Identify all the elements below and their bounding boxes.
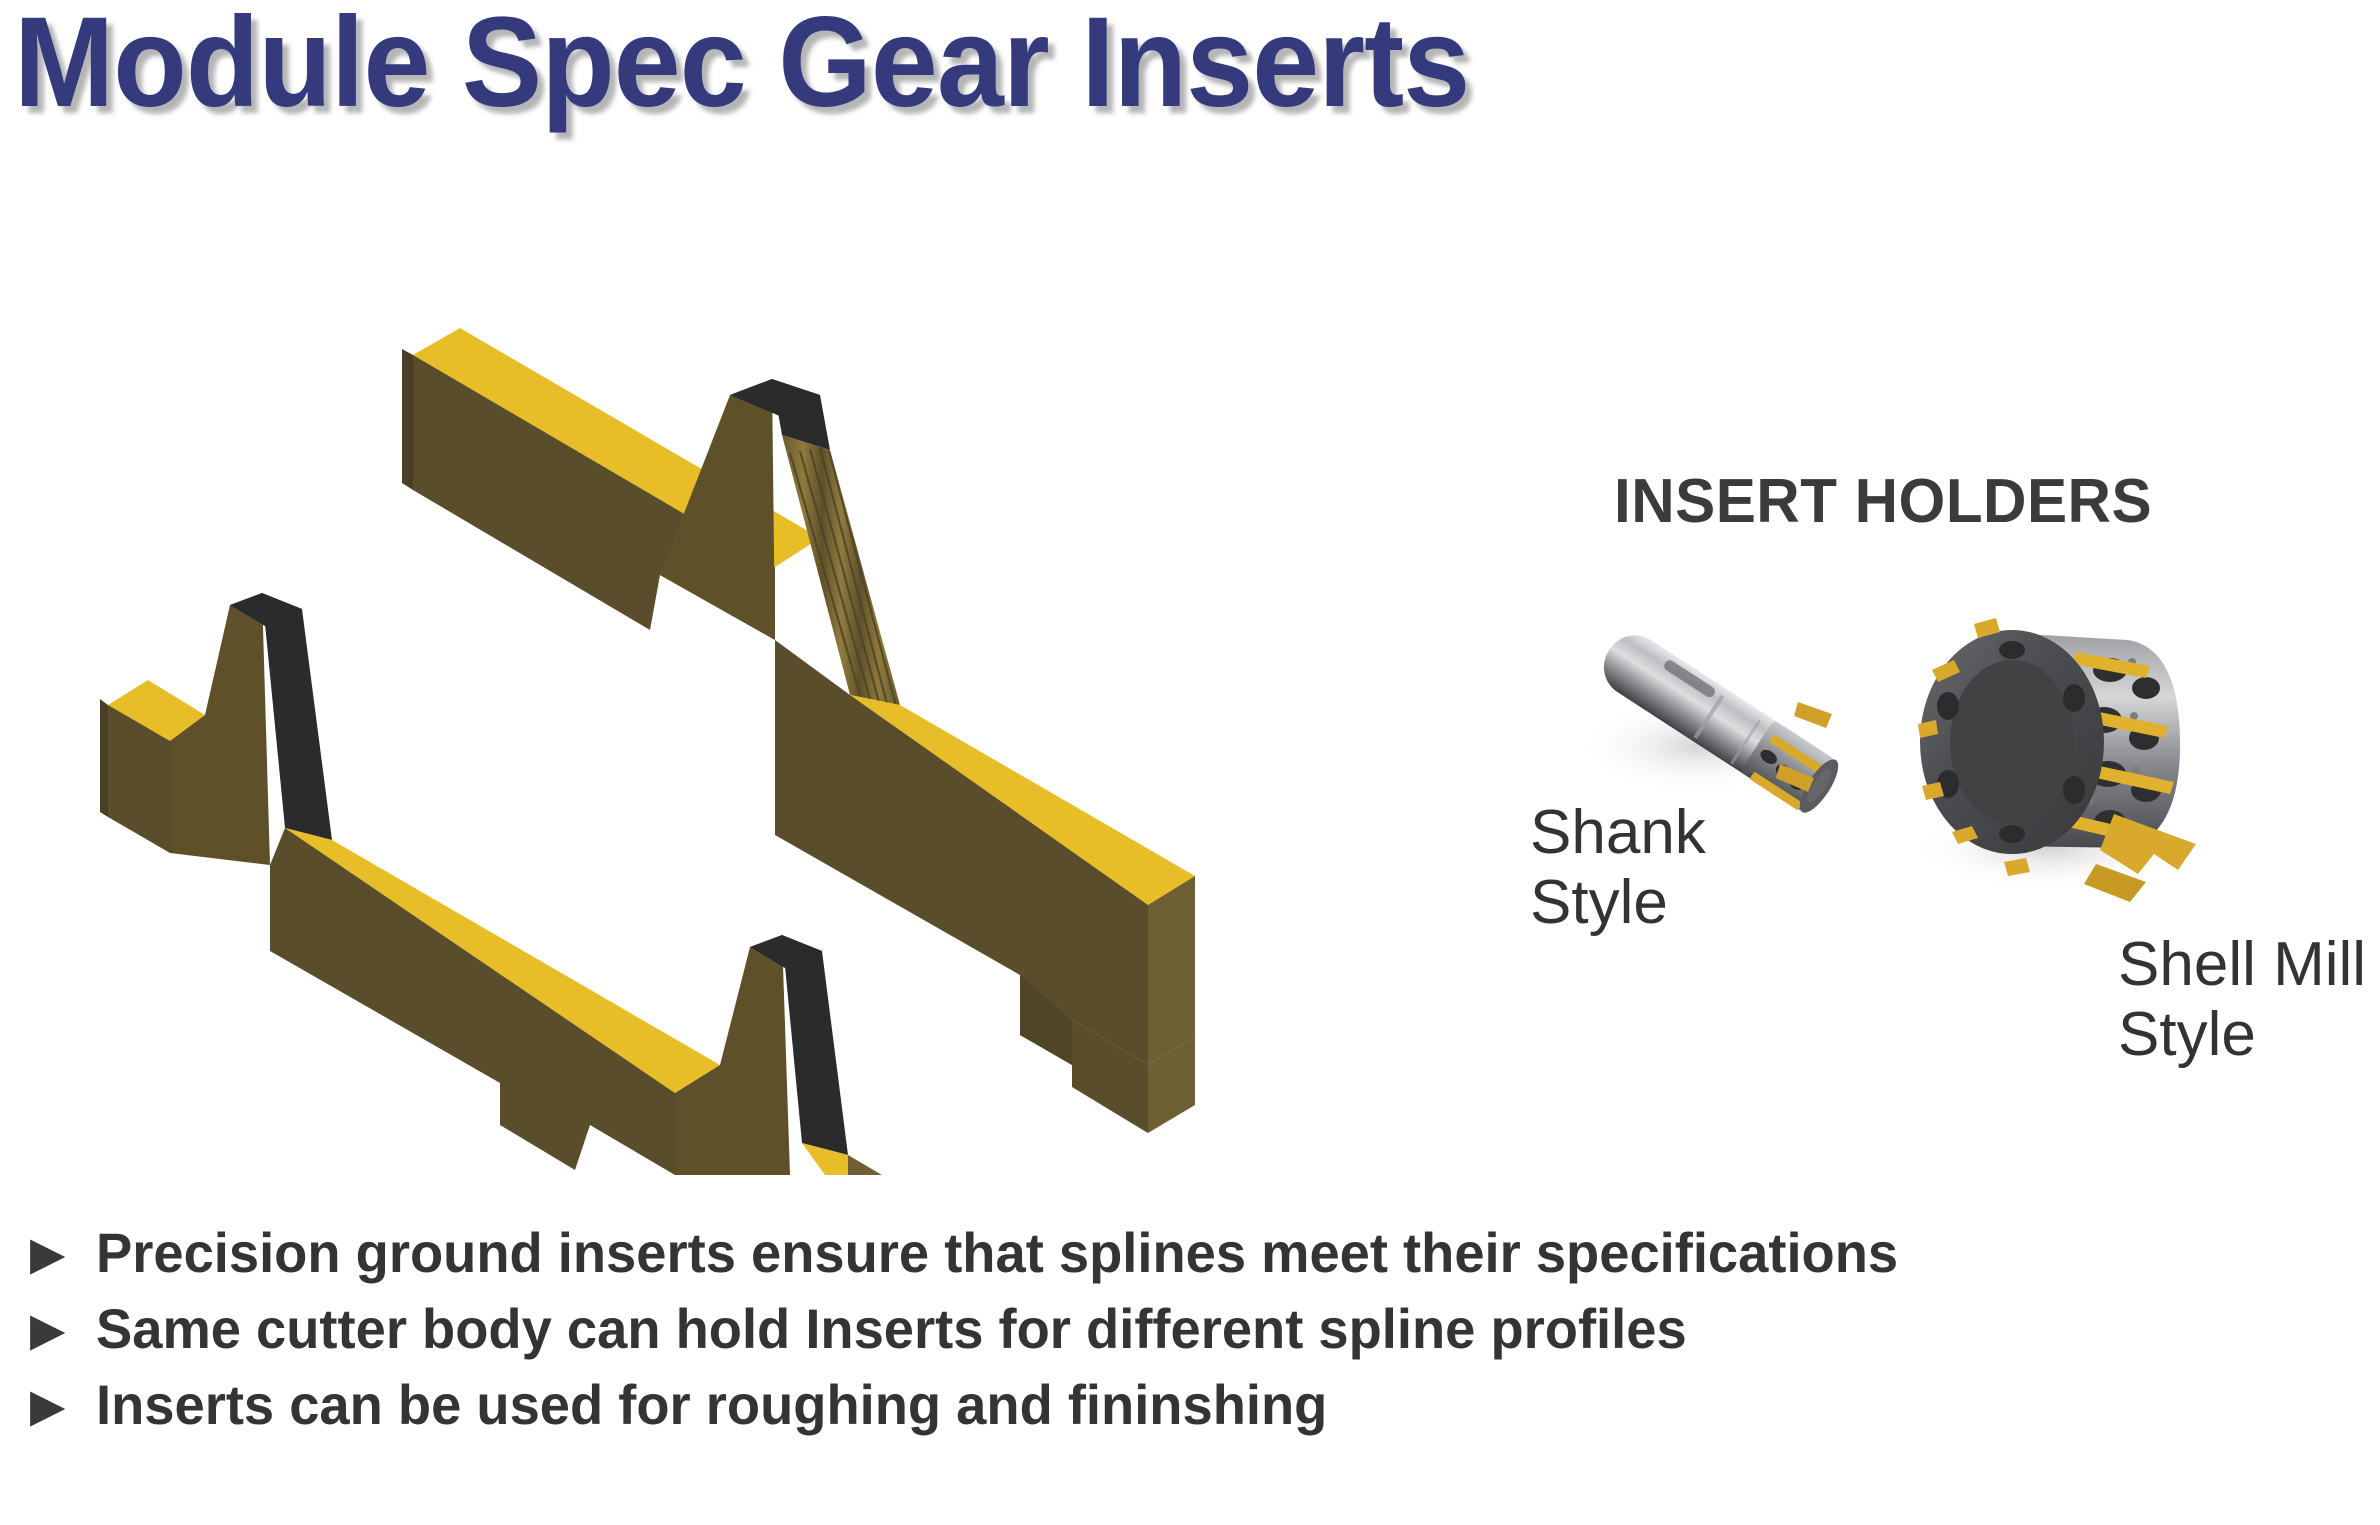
bullet-text: Inserts can be used for roughing and fin… [96,1374,1327,1436]
shank-style-label-line1: Shank [1530,798,1706,868]
gear-insert-illustration [30,275,1240,1175]
list-item: ▶ Precision ground inserts ensure that s… [26,1222,2226,1284]
shell-mill-style-label: Shell Mill Style [2118,930,2366,1070]
list-item: ▶ Inserts can be used for roughing and f… [26,1374,2226,1436]
triangle-bullet-icon: ▶ [26,1222,96,1284]
shell-mill-style-label-line2: Style [2118,1000,2366,1070]
slide-canvas: Module Spec Gear Inserts [0,0,2380,1525]
feature-bullet-list: ▶ Precision ground inserts ensure that s… [26,1222,2226,1450]
triangle-bullet-icon: ▶ [26,1298,96,1360]
triangle-bullet-icon: ▶ [26,1374,96,1436]
bullet-text: Precision ground inserts ensure that spl… [96,1222,1898,1284]
shank-style-label-line2: Style [1530,868,1706,938]
insert-holders-heading: INSERT HOLDERS [1614,466,2152,537]
page-title: Module Spec Gear Inserts [14,0,1469,132]
shank-style-label: Shank Style [1530,798,1706,938]
list-item: ▶ Same cutter body can hold Inserts for … [26,1298,2226,1360]
shell-mill-style-holder-image [1878,578,2218,908]
shell-mill-style-label-line1: Shell Mill [2118,930,2366,1000]
bullet-text: Same cutter body can hold Inserts for di… [96,1298,1687,1360]
insert-lower [100,593,892,1175]
